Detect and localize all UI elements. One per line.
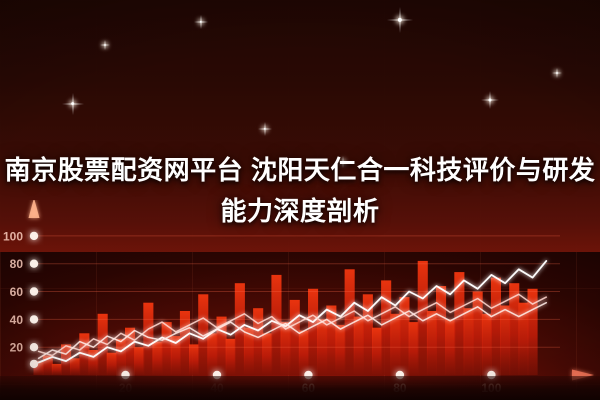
- bottom-strip: [0, 376, 600, 400]
- page-title: 南京股票配资网平台 沈阳天仁合一科技评价与研发能力深度剖析: [0, 150, 600, 232]
- banner-image: 2040608010020406080100 南京股票配资网平台 沈阳天仁合一科…: [0, 0, 600, 400]
- title-text: 南京股票配资网平台 沈阳天仁合一科技评价与研发能力深度剖析: [5, 155, 596, 226]
